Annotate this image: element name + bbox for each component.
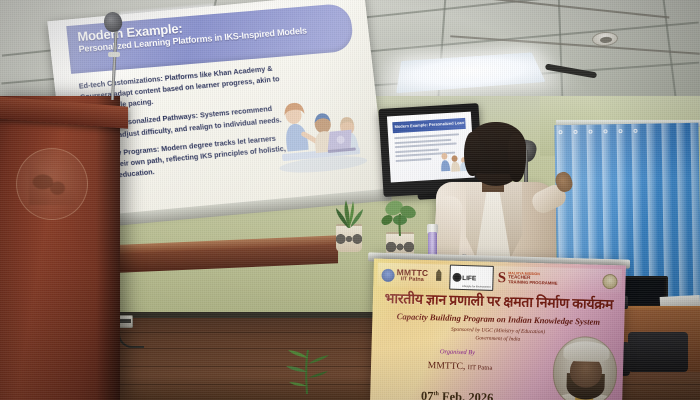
- organiser-secondary: IIT Patna: [468, 364, 493, 372]
- potted-plant-snake-plant: [336, 224, 362, 252]
- snake-plant-leaves: [332, 196, 366, 228]
- ttp-swirl-icon: S: [498, 272, 507, 284]
- event-banner: MMTTC IIT Patna LIFE Lifestyle for Envir…: [370, 259, 626, 400]
- sponsor-line-2: Government of India: [475, 335, 520, 342]
- smoke-detector: [592, 31, 619, 47]
- chair: [628, 332, 688, 372]
- event-date-month-year: Feb. 2026: [439, 389, 494, 400]
- ttp-line3: TRAINING PROGRAMME: [508, 280, 558, 286]
- iit-patna-crest: [16, 148, 88, 220]
- sponsor-line-1: Sponsored by UGC (Ministry of Education): [451, 327, 545, 336]
- event-date-day: 07: [421, 389, 434, 400]
- organiser-primary: MMTTC,: [428, 360, 466, 372]
- conference-room-photo: Modern Example: Personalized Learning Pl…: [0, 0, 700, 400]
- government-emblem-icon: [432, 269, 445, 284]
- ugc-seal-icon: [602, 274, 617, 289]
- teacher-training-programme-logo: S MALVIYA MISSION TEACHER TRAINING PROGR…: [498, 271, 558, 286]
- life-logo: LIFE Lifestyle for Environment: [449, 264, 494, 290]
- teacher-with-students-laptop-illustration: [262, 94, 378, 179]
- potted-plant-bamboo: [280, 332, 334, 394]
- organised-by-label: Organised By: [371, 346, 543, 358]
- mmttc-iit-patna-logo: MMTTC IIT Patna: [381, 268, 428, 283]
- life-glyph-icon: [452, 272, 461, 281]
- event-date: 07th Feb. 2026: [370, 387, 544, 400]
- organiser-name: MMTTC, IIT Patna: [371, 358, 549, 374]
- life-label: LIFE: [462, 274, 476, 281]
- life-sublabel: Lifestyle for Environment: [462, 284, 491, 288]
- led-panel-light: [396, 52, 545, 93]
- pothos-leaves: [378, 198, 422, 236]
- iit-patna-label: IIT Patna: [396, 277, 428, 283]
- iit-patna-crest-icon: [381, 268, 394, 281]
